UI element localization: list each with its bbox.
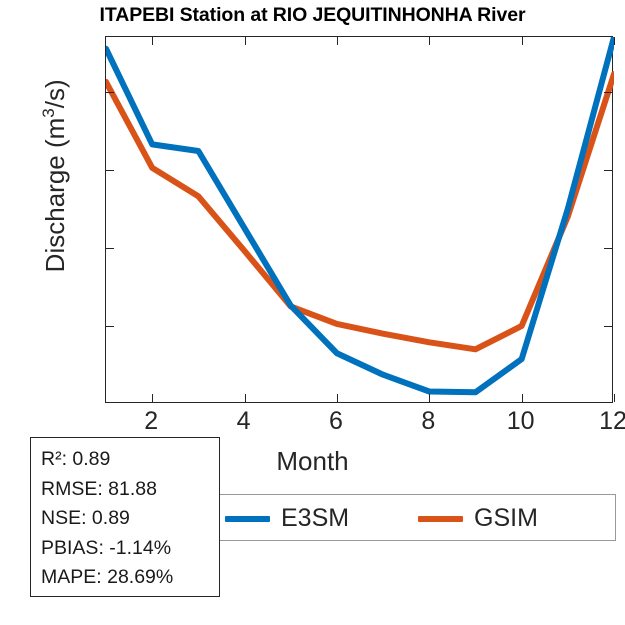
y-tick-mark <box>604 248 612 249</box>
legend-label-e3sm: E3SM <box>281 504 349 533</box>
page-title: ITAPEBI Station at RIO JEQUITINHONHA Riv… <box>0 4 625 27</box>
chart-figure: ITAPEBI Station at RIO JEQUITINHONHA Riv… <box>0 0 625 625</box>
x-tick-label: 2 <box>121 409 181 434</box>
stat-rmse: RMSE: 81.88 <box>41 475 219 505</box>
plot-area <box>105 36 613 403</box>
x-tick-label: 4 <box>214 409 274 434</box>
x-tick-mark <box>522 394 523 402</box>
x-tick-mark <box>337 37 338 45</box>
x-tick-mark <box>245 37 246 45</box>
y-tick-mark <box>106 248 114 249</box>
y-axis-label: Discharge (m3/s) <box>39 0 71 376</box>
y-tick-mark <box>604 170 612 171</box>
legend-swatch-gsim <box>418 516 463 522</box>
chart-legend: E3SM GSIM <box>212 494 616 541</box>
y-tick-mark <box>106 326 114 327</box>
y-axis-label-exponent: 3 <box>39 108 58 117</box>
x-tick-mark <box>522 37 523 45</box>
y-tick-mark <box>604 92 612 93</box>
y-axis-label-tail: /s) <box>40 79 70 108</box>
stat-nse: NSE: 0.89 <box>41 504 219 534</box>
y-tick-mark <box>604 326 612 327</box>
x-tick-mark <box>245 394 246 402</box>
x-tick-mark <box>614 37 615 45</box>
x-tick-mark <box>429 394 430 402</box>
stat-mape: MAPE: 28.69% <box>41 563 219 593</box>
x-tick-mark <box>429 37 430 45</box>
statistics-annotation-box: R²: 0.89 RMSE: 81.88 NSE: 0.89 PBIAS: -1… <box>30 437 220 597</box>
x-tick-mark <box>337 394 338 402</box>
x-tick-mark <box>152 37 153 45</box>
y-axis-label-base: Discharge (m <box>40 118 70 273</box>
legend-item-gsim[interactable]: GSIM <box>418 495 538 542</box>
x-tick-label: 10 <box>491 409 551 434</box>
legend-swatch-e3sm <box>225 516 270 522</box>
legend-item-e3sm[interactable]: E3SM <box>225 495 349 542</box>
y-tick-mark <box>106 92 114 93</box>
data-series-layer <box>106 37 614 404</box>
stat-r2: R²: 0.89 <box>41 445 219 475</box>
x-tick-label: 6 <box>306 409 366 434</box>
x-tick-mark <box>152 394 153 402</box>
series-line-e3sm <box>106 37 614 392</box>
y-tick-mark <box>106 170 114 171</box>
stat-pbias: PBIAS: -1.14% <box>41 534 219 564</box>
x-tick-label: 12 <box>583 409 625 434</box>
legend-label-gsim: GSIM <box>474 504 538 533</box>
x-tick-label: 8 <box>398 409 458 434</box>
x-tick-mark <box>614 394 615 402</box>
